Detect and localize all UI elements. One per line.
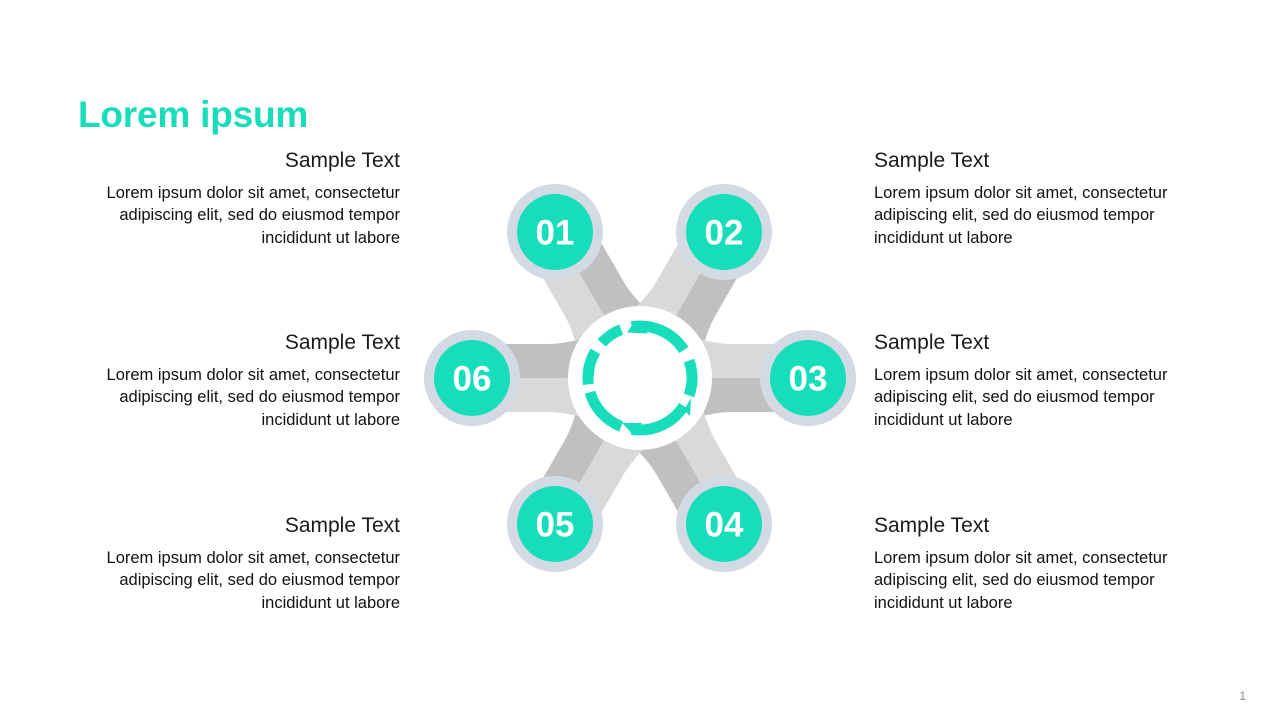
slide-canvas: Lorem ipsum Sample Text Lorem ipsum dolo… [0, 0, 1280, 720]
text-block-heading: Sample Text [874, 148, 1210, 174]
text-block-02: Sample Text Lorem ipsum dolor sit amet, … [874, 148, 1210, 249]
node-number: 06 [453, 360, 492, 399]
node-number: 03 [789, 360, 828, 399]
node-number: 01 [536, 214, 575, 253]
node-05[interactable]: 05 [507, 476, 603, 572]
text-block-heading: Sample Text [64, 513, 400, 539]
node-number: 02 [705, 214, 744, 253]
text-block-04: Sample Text Lorem ipsum dolor sit amet, … [874, 513, 1210, 614]
text-block-01: Sample Text Lorem ipsum dolor sit amet, … [64, 148, 400, 249]
page-title: Lorem ipsum [78, 94, 308, 136]
node-06[interactable]: 06 [424, 330, 520, 426]
text-block-body: Lorem ipsum dolor sit amet, consectetur … [64, 364, 400, 431]
text-block-body: Lorem ipsum dolor sit amet, consectetur … [874, 182, 1210, 249]
node-03[interactable]: 03 [760, 330, 856, 426]
node-01[interactable]: 01 [507, 184, 603, 280]
text-block-heading: Sample Text [64, 148, 400, 174]
text-block-heading: Sample Text [874, 330, 1210, 356]
text-block-body: Lorem ipsum dolor sit amet, consectetur … [874, 547, 1210, 614]
text-block-05: Sample Text Lorem ipsum dolor sit amet, … [64, 513, 400, 614]
text-block-06: Sample Text Lorem ipsum dolor sit amet, … [64, 330, 400, 431]
text-block-heading: Sample Text [64, 330, 400, 356]
text-block-body: Lorem ipsum dolor sit amet, consectetur … [64, 547, 400, 614]
node-04[interactable]: 04 [676, 476, 772, 572]
node-number: 04 [705, 506, 744, 545]
text-block-body: Lorem ipsum dolor sit amet, consectetur … [874, 364, 1210, 431]
text-block-heading: Sample Text [874, 513, 1210, 539]
node-02[interactable]: 02 [676, 184, 772, 280]
text-block-03: Sample Text Lorem ipsum dolor sit amet, … [874, 330, 1210, 431]
node-number: 05 [536, 506, 575, 545]
hub-and-spoke-diagram: 01 02 03 04 [400, 150, 880, 610]
page-number: 1 [1239, 689, 1246, 703]
text-block-body: Lorem ipsum dolor sit amet, consectetur … [64, 182, 400, 249]
